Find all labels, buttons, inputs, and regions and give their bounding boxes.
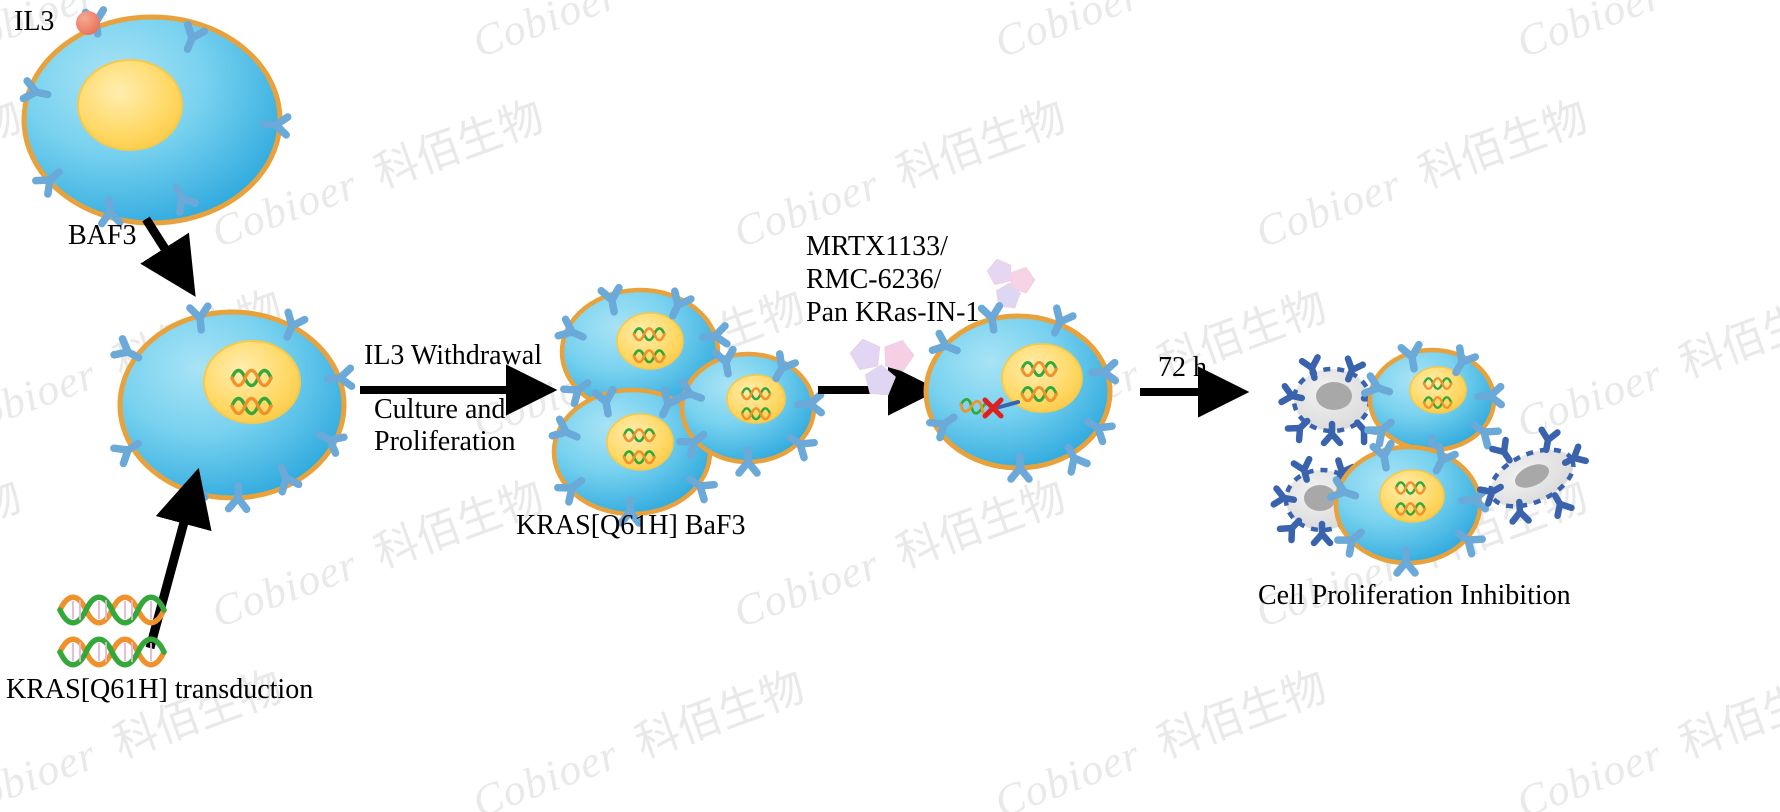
cell-kras-transduced (114, 306, 352, 509)
label-kras-transduction: KRAS[Q61H] transduction (6, 672, 313, 708)
dna-construct-kras (60, 597, 164, 665)
label-il3: IL3 (14, 4, 54, 40)
cell-baf3-parental (23, 10, 287, 224)
label-proliferation: Proliferation (374, 424, 516, 460)
label-drug-rmc6236: RMC-6236/ (806, 262, 941, 298)
cell-result-upper-right (1365, 345, 1502, 461)
dying-cell-3 (1480, 430, 1585, 522)
label-drug-pan-kras-in-1: Pan KRas-IN-1 (806, 295, 979, 331)
cells-inhibition-result (1274, 345, 1586, 573)
label-72h: 72 h (1158, 350, 1207, 386)
label-cell-proliferation-inhibition: Cell Proliferation Inhibition (1258, 578, 1571, 614)
drug-cluster-upper (985, 256, 1037, 308)
label-drug-mrtx1133: MRTX1133/ (806, 229, 948, 265)
cell-inhibitor-treated (926, 306, 1115, 479)
label-il3-withdrawal: IL3 Withdrawal (364, 338, 542, 374)
label-culture: Culture and (374, 392, 505, 428)
arrow-baf3-to-transduced (146, 219, 190, 288)
label-kras-baf3: KRAS[Q61H] BaF3 (516, 508, 745, 544)
il3-molecule (76, 11, 100, 35)
label-baf3: BAF3 (68, 218, 136, 254)
cell-result-lower-centre (1331, 444, 1486, 573)
cells-kras-baf3-proliferating (552, 288, 821, 523)
